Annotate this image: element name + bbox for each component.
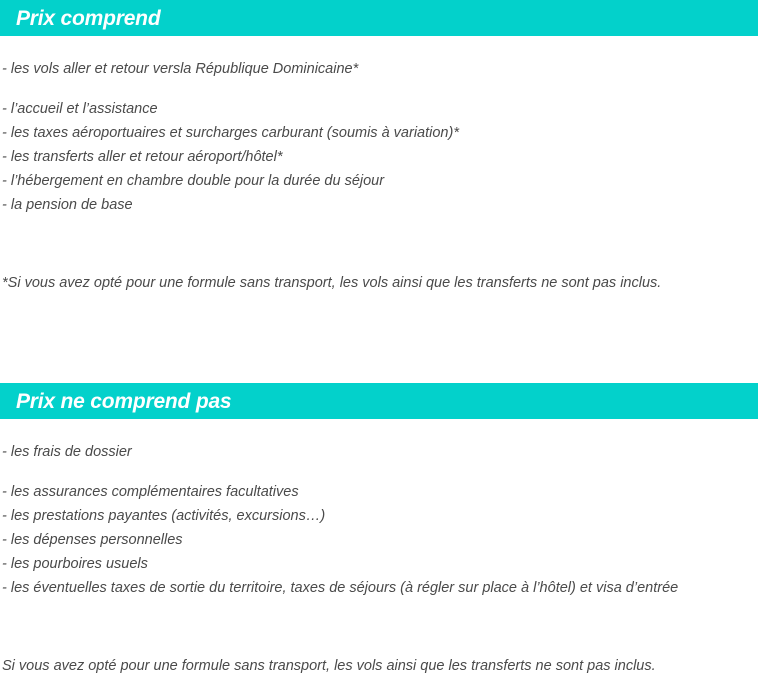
list-item: - les frais de dossier bbox=[2, 440, 758, 464]
list-item: - les pourboires usuels bbox=[2, 552, 758, 576]
section-title-prix-comprend: Prix comprend bbox=[16, 8, 160, 29]
section-body-prix-ne-comprend-pas: - les frais de dossier - les assurances … bbox=[0, 419, 758, 600]
list-item: - l’hébergement en chambre double pour l… bbox=[2, 169, 758, 193]
exclusions-list: - les frais de dossier - les assurances … bbox=[2, 440, 758, 600]
list-item: - les transferts aller et retour aéropor… bbox=[2, 145, 758, 169]
price-inclusions-page: Prix comprend - les vols aller et retour… bbox=[0, 0, 758, 692]
footnote-prix-comprend: *Si vous avez opté pour une formule sans… bbox=[2, 271, 661, 295]
section-title-prix-ne-comprend-pas: Prix ne comprend pas bbox=[16, 391, 231, 412]
list-item: - les éventuelles taxes de sortie du ter… bbox=[2, 576, 758, 600]
list-item: - la pension de base bbox=[2, 193, 758, 217]
section-prix-ne-comprend-pas: Prix ne comprend pas - les frais de doss… bbox=[0, 383, 758, 600]
list-item: - les assurances complémentaires faculta… bbox=[2, 480, 758, 504]
list-item: - l’accueil et l’assistance bbox=[2, 97, 758, 121]
footnote-prix-ne-comprend-pas: Si vous avez opté pour une formule sans … bbox=[2, 654, 656, 678]
section-header-bar-prix-ne-comprend-pas: Prix ne comprend pas bbox=[0, 383, 758, 419]
list-item: - les vols aller et retour versla Républ… bbox=[2, 57, 758, 81]
section-body-prix-comprend: - les vols aller et retour versla Républ… bbox=[0, 36, 758, 217]
section-prix-comprend: Prix comprend - les vols aller et retour… bbox=[0, 0, 758, 217]
list-item: - les prestations payantes (activités, e… bbox=[2, 504, 758, 528]
list-item: - les dépenses personnelles bbox=[2, 528, 758, 552]
inclusions-list: - les vols aller et retour versla Républ… bbox=[2, 57, 758, 217]
section-header-bar-prix-comprend: Prix comprend bbox=[0, 0, 758, 36]
list-item: - les taxes aéroportuaires et surcharges… bbox=[2, 121, 758, 145]
